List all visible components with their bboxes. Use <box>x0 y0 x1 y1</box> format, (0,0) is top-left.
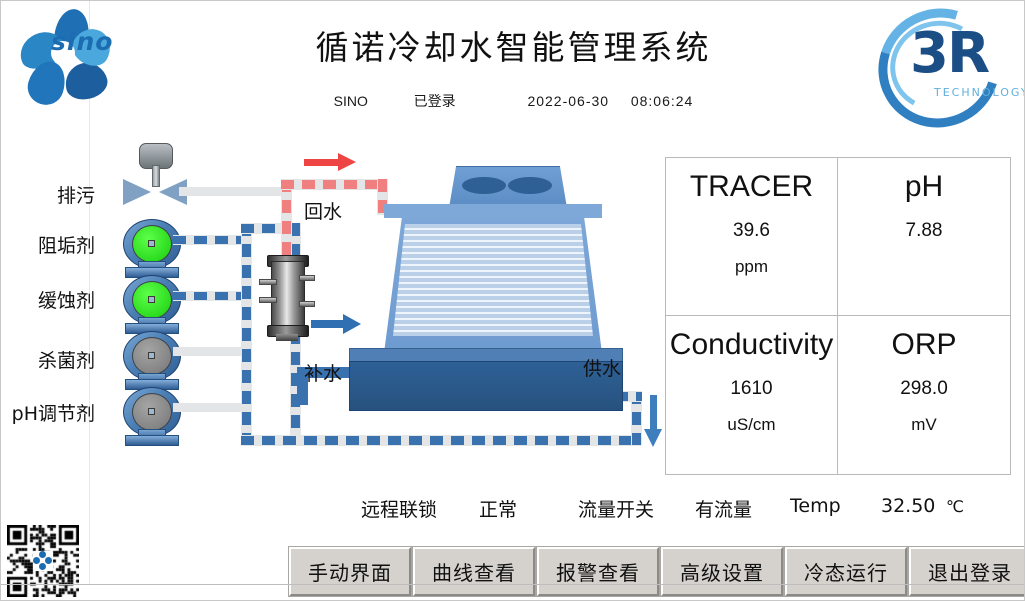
reading-card-conductivity[interactable]: Conductivity 1610 uS/cm <box>666 316 838 474</box>
cooling-tower-icon <box>341 166 601 426</box>
pump-antiscalant[interactable] <box>123 219 179 275</box>
reading-value: 298.0 <box>900 378 948 400</box>
dosing-label-corrosion-inhibitor: 缓蚀剂 <box>17 286 95 313</box>
reading-value: 1610 <box>730 378 772 400</box>
reading-name: Conductivity <box>670 328 833 363</box>
pipe-blowdown <box>179 187 289 196</box>
reading-card-ph[interactable]: pH 7.88 <box>838 158 1010 316</box>
label-return-water: 回水 <box>304 197 342 224</box>
3r-technology-logo-icon: 3R TECHNOLOGY <box>870 3 1020 115</box>
dosing-label-antiscalant: 阻垢剂 <box>17 231 95 258</box>
dosing-label-blowdown: 排污 <box>21 181 95 208</box>
status-value-temperature: 32.50 <box>881 495 935 517</box>
reading-name: TRACER <box>690 170 813 205</box>
pipe-corrosion-inhibitor-flow <box>173 292 251 300</box>
label-makeup-water: 补水 <box>304 359 342 386</box>
reading-card-tracer[interactable]: TRACER 39.6 ppm <box>666 158 838 316</box>
status-label-remote-interlock: 远程联锁 <box>361 495 437 522</box>
3r-subtitle: TECHNOLOGY <box>934 86 1025 99</box>
qr-code[interactable] <box>7 525 79 597</box>
reading-unit: uS/cm <box>727 415 775 435</box>
manual-interface-button[interactable]: 手动界面 <box>289 547 411 596</box>
application-window: sino 循诺冷却水智能管理系统 SINO 已登录 2022-06-30 08:… <box>0 0 1025 601</box>
reading-value: 39.6 <box>733 220 770 242</box>
current-time: 08:06:24 <box>631 93 694 109</box>
reading-name: ORP <box>891 328 956 363</box>
pipe-antiscalant-flow <box>173 236 251 244</box>
header-bar: sino 循诺冷却水智能管理系统 SINO 已登录 2022-06-30 08:… <box>1 1 1025 121</box>
user-name: SINO <box>334 93 368 109</box>
pipe-ph-adjuster <box>173 403 251 412</box>
pump-ph-adjuster[interactable] <box>123 387 179 443</box>
pump-biocide[interactable] <box>123 331 179 387</box>
reading-unit: ppm <box>735 257 768 277</box>
cooling-tower-fan-icon <box>449 166 567 208</box>
pump-corrosion-inhibitor[interactable] <box>123 275 179 331</box>
status-value-flow-switch: 有流量 <box>695 495 752 522</box>
logout-button[interactable]: 退出登录 <box>909 547 1025 596</box>
reading-card-orp[interactable]: ORP 298.0 mV <box>838 316 1010 474</box>
current-date: 2022-06-30 <box>527 93 609 109</box>
reading-value: 7.88 <box>906 220 943 242</box>
sidestream-sensor-vessel-icon[interactable] <box>263 249 311 341</box>
status-value-remote-interlock: 正常 <box>479 495 517 522</box>
cold-start-button[interactable]: 冷态运行 <box>785 547 907 596</box>
trend-view-button[interactable]: 曲线查看 <box>413 547 535 596</box>
status-label-flow-switch: 流量开关 <box>578 495 654 522</box>
dosing-label-biocide: 杀菌剂 <box>17 346 95 373</box>
status-unit-temperature: ℃ <box>946 497 964 516</box>
reading-unit: mV <box>911 415 937 435</box>
bottom-button-bar: 手动界面 曲线查看 报警查看 高级设置 冷态运行 退出登录 <box>289 547 1025 592</box>
alarm-view-button[interactable]: 报警查看 <box>537 547 659 596</box>
reading-name: pH <box>905 170 943 205</box>
label-supply-water: 供水 <box>583 354 621 381</box>
pipe-sidestream-bottom-flow <box>241 436 641 445</box>
status-label-temperature: Temp <box>790 495 841 517</box>
dosing-label-ph-adjuster: pH调节剂 <box>9 399 95 426</box>
cooling-tower-basin <box>349 361 623 411</box>
login-status: 已登录 <box>414 91 456 111</box>
footer-divider <box>1 584 1025 585</box>
pipe-biocide <box>173 347 251 356</box>
measurements-panel: TRACER 39.6 ppm pH 7.88 Conductivity 161… <box>665 157 1011 475</box>
qr-center-logo-icon <box>33 551 53 571</box>
cooling-tower-louvers <box>393 224 593 336</box>
status-strip: 远程联锁 正常 流量开关 有流量 Temp 32.50 ℃ <box>1 495 1025 529</box>
advanced-settings-button[interactable]: 高级设置 <box>661 547 783 596</box>
pipe-sidestream-left-flow <box>242 223 251 445</box>
3r-wordmark: 3R <box>910 21 988 86</box>
